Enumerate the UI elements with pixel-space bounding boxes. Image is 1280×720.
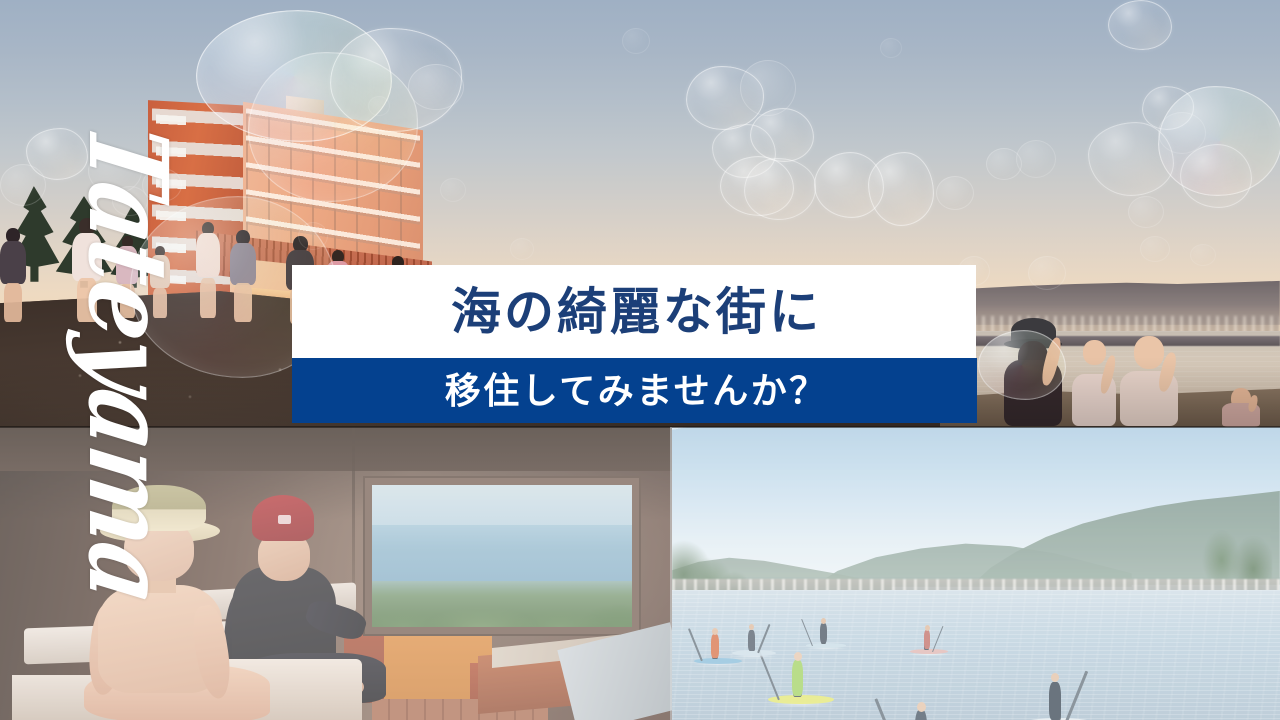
soap-bubble [440,178,466,202]
soap-bubble [0,164,46,206]
paddle [1064,671,1088,720]
paddleboarder [806,598,848,648]
person-body [0,241,26,284]
straw-hat [112,485,206,531]
soap-bubble [1140,236,1170,262]
paddler-head [712,628,718,635]
person-silhouette [0,228,26,322]
paddleboarder [888,674,966,720]
subline-text: 移住してみませんか？ [441,373,828,409]
person-legs [77,278,97,322]
person-silhouette [72,218,102,322]
paddler-head [749,624,754,630]
grid-divider-horizontal [0,426,1280,428]
soap-bubble [408,64,464,110]
paddler-head [925,625,930,631]
soap-bubble [1016,140,1056,178]
soap-bubble [936,176,974,210]
soap-bubble [880,38,902,58]
ocean-view-window [372,485,632,627]
paddler-body [924,630,930,649]
sauna-ceiling [0,427,672,471]
soap-bubble [142,168,182,202]
soap-bubble [868,152,934,226]
soap-bubble [1088,122,1174,196]
headline-text: 海の綺麗な街に [446,287,822,337]
paddler-head [1051,673,1059,682]
paddle [932,626,943,652]
red-beanie [252,495,314,541]
soap-bubble [368,96,390,116]
paddler-body [748,630,755,651]
person-legs [4,283,22,322]
paddleboard [910,649,948,654]
person-head [1083,340,1106,365]
photo-sauna-ocean-view [0,427,672,720]
soap-bubble [978,330,1066,400]
soap-bubble [112,186,148,216]
bubble-catcher [1072,340,1116,424]
soap-bubble [1108,0,1172,50]
paddleboarder [910,606,951,654]
soap-bubble [510,238,534,260]
paddler-head [917,702,926,712]
soap-bubble [1180,144,1252,208]
subline-banner: 移住してみませんか？ [292,358,977,423]
paddleboarder [1024,648,1098,720]
promo-graphic: 海の綺麗な街に 移住してみませんか？ Tateyama [0,0,1280,720]
soap-bubble [1190,244,1216,266]
soap-bubble [248,52,418,202]
paddleboarder [732,604,778,656]
paddler-body [711,634,719,658]
grid-divider-vertical [670,427,672,720]
soap-bubble [298,222,328,250]
soap-bubble [622,28,650,54]
paddler-head [821,618,826,624]
headline-banner: 海の綺麗な街に [292,265,976,358]
paddler-body [1049,682,1061,720]
paddler-body [820,623,827,643]
paddle [757,624,770,653]
soap-bubble [1128,196,1164,228]
bubble-catcher [1120,336,1178,424]
photo-stand-up-paddleboarding [672,427,1280,720]
paddler-body [792,660,803,696]
person-head [1134,336,1164,369]
soap-bubble [744,158,816,220]
bubble-catcher [1222,388,1260,426]
person-body [72,233,102,281]
soap-bubble [1028,256,1066,290]
paddler-head [794,652,802,661]
